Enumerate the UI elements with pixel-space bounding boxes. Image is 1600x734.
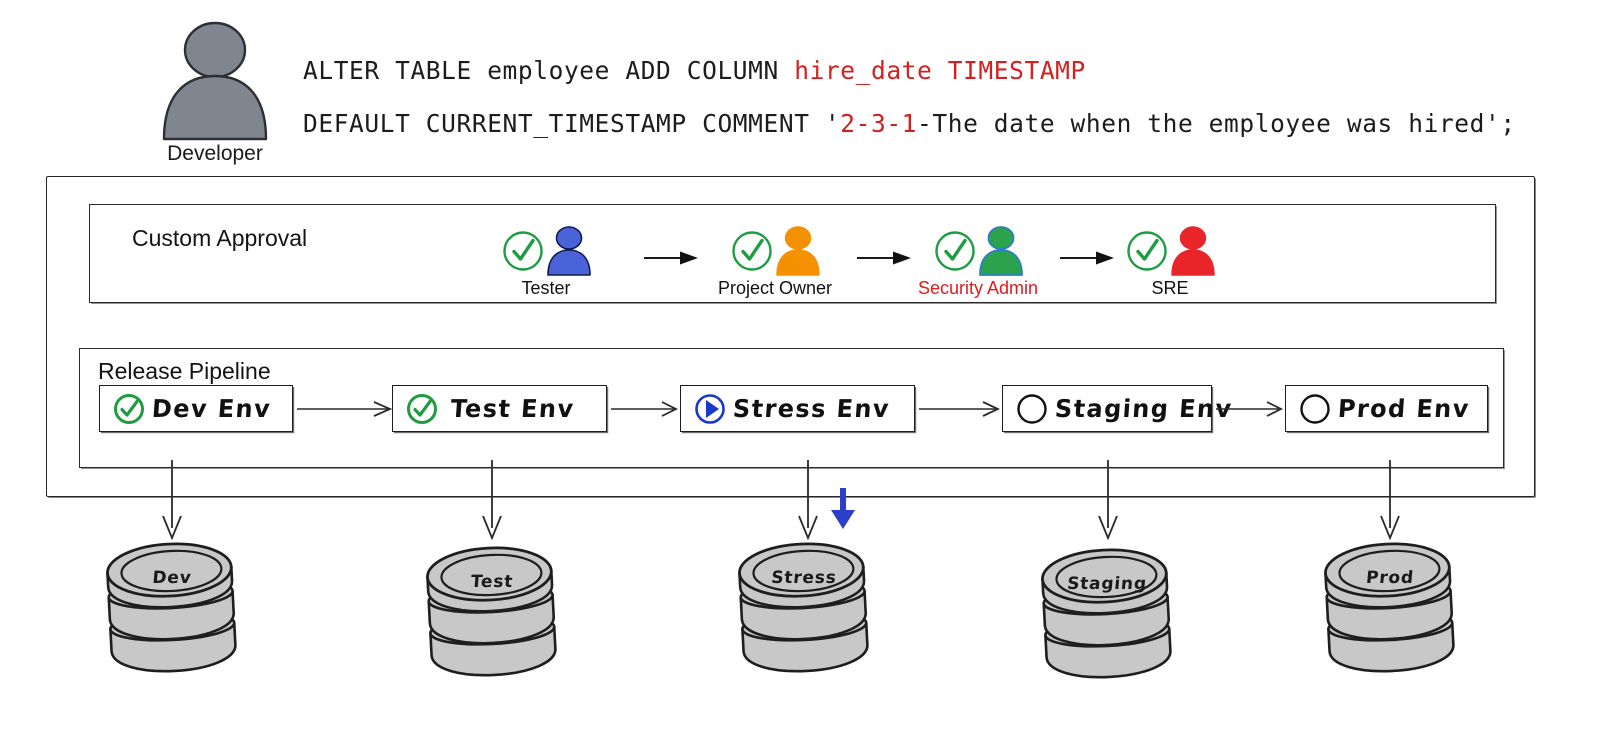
- workflow-container: Custom Approval Tester: [46, 176, 1535, 497]
- user-avatar-icon: [150, 14, 280, 144]
- pipeline-stage-dev-env[interactable]: Dev Env: [99, 385, 293, 432]
- sql-line-2-plain: DEFAULT CURRENT_TIMESTAMP COMMENT ': [303, 109, 840, 138]
- pipeline-stage-dev-env-label: Dev Env: [151, 394, 298, 423]
- approval-arrow-1: [642, 249, 702, 267]
- pipeline-stage-test-env-label: Test Env: [444, 394, 607, 423]
- database-cylinder-icon: [1310, 538, 1470, 703]
- arrow-right-icon: [1215, 401, 1283, 417]
- pipeline-stage-prod-env-label: Prod Env: [1337, 394, 1497, 423]
- arrow-down-icon: [477, 460, 507, 540]
- sql-statement: ALTER TABLE employee ADD COLUMN hire_dat…: [303, 44, 1503, 150]
- approver-project-owner[interactable]: Project Owner: [695, 225, 855, 303]
- arrow-down-icon: [822, 486, 864, 531]
- empty-circle-icon: [1298, 392, 1332, 426]
- approver-sre-icons: [1122, 225, 1218, 277]
- approver-security-admin-label: Security Admin: [898, 278, 1058, 299]
- approver-sre-label: SRE: [1090, 278, 1250, 299]
- person-icon: [544, 225, 594, 277]
- pipeline-arrow-2: [610, 401, 678, 417]
- approver-tester-label: Tester: [466, 278, 626, 299]
- deploy-arrow-staging: [1093, 460, 1123, 540]
- arrow-right-icon: [642, 249, 702, 267]
- approval-to-pipeline-arrow: [822, 486, 864, 531]
- database-staging[interactable]: Staging: [1027, 544, 1187, 709]
- arrow-right-icon: [296, 401, 392, 417]
- database-cylinder-icon: [412, 542, 572, 707]
- pipeline-arrow-4: [1215, 401, 1283, 417]
- sql-line-2-tail: -The date when the employee was hired';: [917, 109, 1516, 138]
- pipeline-stage-prod-env[interactable]: Prod Env: [1285, 385, 1488, 432]
- sql-line-2: DEFAULT CURRENT_TIMESTAMP COMMENT '2-3-1…: [303, 97, 1503, 150]
- arrow-down-icon: [793, 460, 823, 540]
- person-icon: [773, 225, 823, 277]
- arrow-down-icon: [1375, 460, 1405, 540]
- check-circle-icon: [405, 392, 439, 426]
- database-prod[interactable]: Prod: [1310, 538, 1470, 703]
- database-dev[interactable]: Dev: [92, 538, 252, 703]
- pipeline-stage-stress-env-label: Stress Env: [732, 394, 917, 423]
- sql-line-1-highlight: hire_date TIMESTAMP: [794, 56, 1086, 85]
- custom-approval-panel: Custom Approval Tester: [89, 204, 1496, 303]
- person-icon: [976, 225, 1026, 277]
- sql-line-1-plain: ALTER TABLE employee ADD COLUMN: [303, 56, 794, 85]
- check-circle-icon: [112, 392, 146, 426]
- pipeline-arrow-1: [296, 401, 392, 417]
- deploy-arrow-dev: [157, 460, 187, 540]
- arrow-down-icon: [1093, 460, 1123, 540]
- deploy-arrow-prod: [1375, 460, 1405, 540]
- database-cylinder-icon: [724, 538, 884, 703]
- approver-project-owner-icons: [727, 225, 823, 277]
- sql-line-1: ALTER TABLE employee ADD COLUMN hire_dat…: [303, 44, 1503, 97]
- pipeline-arrow-3: [918, 401, 1000, 417]
- sql-line-2-highlight: 2-3-1: [840, 109, 917, 138]
- arrow-down-icon: [157, 460, 187, 540]
- database-stress[interactable]: Stress: [724, 538, 884, 703]
- play-circle-icon: [693, 392, 727, 426]
- arrow-right-icon: [610, 401, 678, 417]
- approver-sre[interactable]: SRE: [1090, 225, 1250, 303]
- release-pipeline-title: Release Pipeline: [98, 358, 271, 385]
- diagram-canvas: Developer ALTER TABLE employee ADD COLUM…: [0, 0, 1600, 734]
- deploy-arrow-stress: [793, 460, 823, 540]
- arrow-right-icon: [918, 401, 1000, 417]
- deploy-arrow-test: [477, 460, 507, 540]
- database-cylinder-icon: [1027, 544, 1187, 709]
- approver-tester-icons: [498, 225, 594, 277]
- pipeline-stage-staging-env[interactable]: Staging Env: [1002, 385, 1212, 432]
- approver-project-owner-label: Project Owner: [695, 278, 855, 299]
- database-test[interactable]: Test: [412, 542, 572, 707]
- approver-tester[interactable]: Tester: [466, 225, 626, 303]
- developer-actor: Developer: [150, 14, 280, 164]
- developer-label: Developer: [150, 142, 280, 166]
- empty-circle-icon: [1015, 392, 1049, 426]
- approver-security-admin[interactable]: Security Admin: [898, 225, 1058, 303]
- pipeline-stage-test-env[interactable]: Test Env: [392, 385, 607, 432]
- person-icon: [1168, 225, 1218, 277]
- approver-security-admin-icons: [930, 225, 1026, 277]
- release-pipeline-panel: Release Pipeline Dev Env: [79, 348, 1504, 468]
- database-cylinder-icon: [92, 538, 252, 703]
- custom-approval-title: Custom Approval: [132, 225, 307, 252]
- pipeline-stage-stress-env[interactable]: Stress Env: [680, 385, 915, 432]
